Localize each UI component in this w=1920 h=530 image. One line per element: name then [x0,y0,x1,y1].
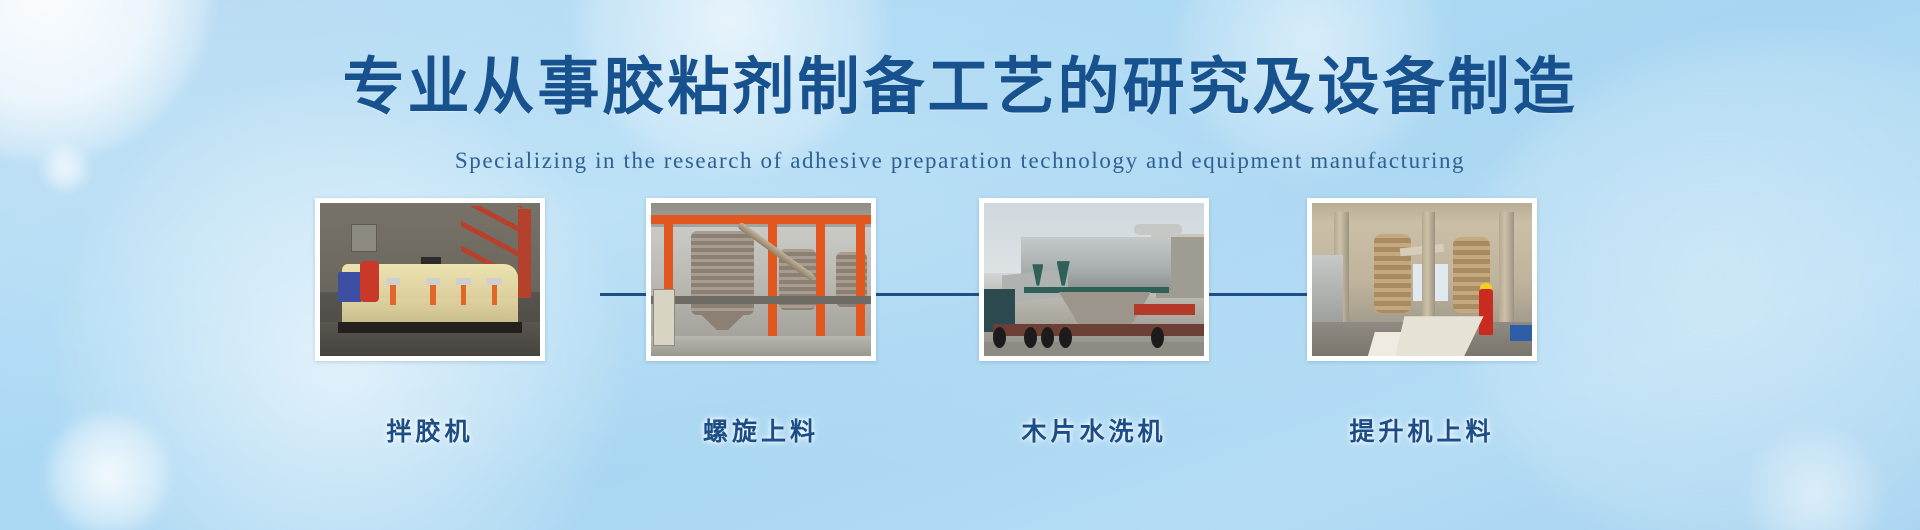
process-photo-card-4[interactable] [1307,198,1537,361]
banner-subheadline: Specializing in the research of adhesive… [0,148,1920,174]
photo-wood-chip-washer [984,203,1204,356]
photo-caption-3: 木片水洗机 [929,412,1259,448]
connector-line-2 [876,293,996,296]
process-photo-card-3[interactable] [979,198,1209,361]
photo-elevator-feeding [1312,203,1532,356]
bokeh-circle-corner-icon [1750,430,1880,530]
hero-banner: 专业从事胶粘剂制备工艺的研究及设备制造 Specializing in the … [0,0,1920,530]
photo-caption-4: 提升机上料 [1257,412,1587,448]
photo-glue-mixer [320,203,540,356]
process-photo-card-2[interactable] [646,198,876,361]
bokeh-circle-bottom-icon [48,415,168,530]
banner-headline: 专业从事胶粘剂制备工艺的研究及设备制造 [0,52,1920,123]
process-photo-strip [0,198,1920,398]
process-photo-card-1[interactable] [315,198,545,361]
photo-spiral-feeding [651,203,871,356]
photo-caption-2: 螺旋上料 [596,412,926,448]
photo-caption-1: 拌胶机 [265,412,595,448]
